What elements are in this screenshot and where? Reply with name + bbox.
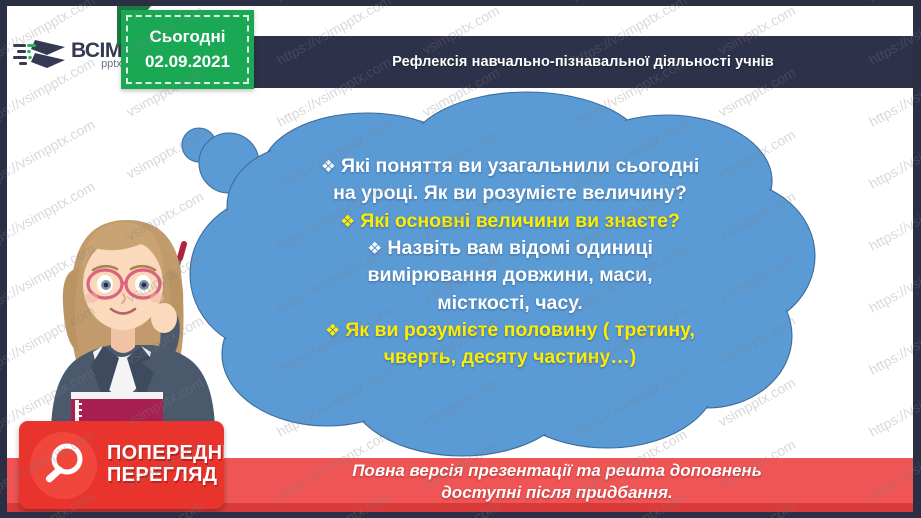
bubble-line: вимірювання довжини, маси,	[275, 263, 745, 288]
teacher-illustration	[33, 176, 248, 446]
bubble-line: на уроці. Як ви розумієте величину?	[275, 181, 745, 206]
bubble-line-highlighted: ❖Як ви розумієте половину ( третину,	[275, 318, 745, 343]
bubble-line: ❖Які поняття ви узагальнили сьогодні	[275, 154, 745, 179]
date-badge-label: Сьогодні	[150, 25, 226, 50]
brand-logo[interactable]: ВСІМ pptx	[7, 30, 135, 80]
bubble-line-highlighted: ❖Які основні величини ви знаєте?	[275, 209, 745, 234]
footer-line-1: Повна версія презентації та решта доповн…	[257, 460, 857, 482]
diamond-bullet-icon: ❖	[321, 157, 336, 176]
date-badge: Сьогодні 02.09.2021	[121, 10, 254, 89]
bubble-text-block: ❖Які поняття ви узагальнили сьогодні на …	[275, 154, 745, 373]
footer-message: Повна версія презентації та решта доповн…	[257, 460, 857, 504]
graduation-cap-icon	[13, 36, 69, 74]
bubble-line-highlighted: чверть, десяту частину…)	[275, 345, 745, 370]
header-bar: Рефлексія навчально-пізнавальної діяльно…	[253, 36, 913, 88]
preview-button-label: ПОПЕРЕДНІЙ ПЕРЕГЛЯД	[107, 443, 224, 486]
magnifier-icon	[30, 432, 97, 499]
preview-label-line-2: ПЕРЕГЛЯД	[107, 465, 224, 487]
slide-frame: ❖Які поняття ви узагальнили сьогодні на …	[0, 0, 921, 518]
diamond-bullet-icon: ❖	[367, 239, 382, 258]
diamond-bullet-icon: ❖	[340, 212, 355, 231]
bubble-line: місткості, часу.	[275, 291, 745, 316]
diamond-bullet-icon: ❖	[325, 321, 340, 340]
date-badge-value: 02.09.2021	[145, 50, 230, 75]
page-title: Рефлексія навчально-пізнавальної діяльно…	[392, 54, 774, 70]
preview-button[interactable]: ПОПЕРЕДНІЙ ПЕРЕГЛЯД	[19, 421, 224, 509]
bubble-line: ❖Назвіть вам відомі одиниці	[275, 236, 745, 261]
footer-line-2: доступні після придбання.	[257, 482, 857, 504]
logo-wordmark: ВСІМ pptx	[71, 40, 122, 70]
preview-label-line-1: ПОПЕРЕДНІЙ	[107, 443, 224, 465]
slide-canvas: ❖Які поняття ви узагальнили сьогодні на …	[7, 6, 913, 512]
